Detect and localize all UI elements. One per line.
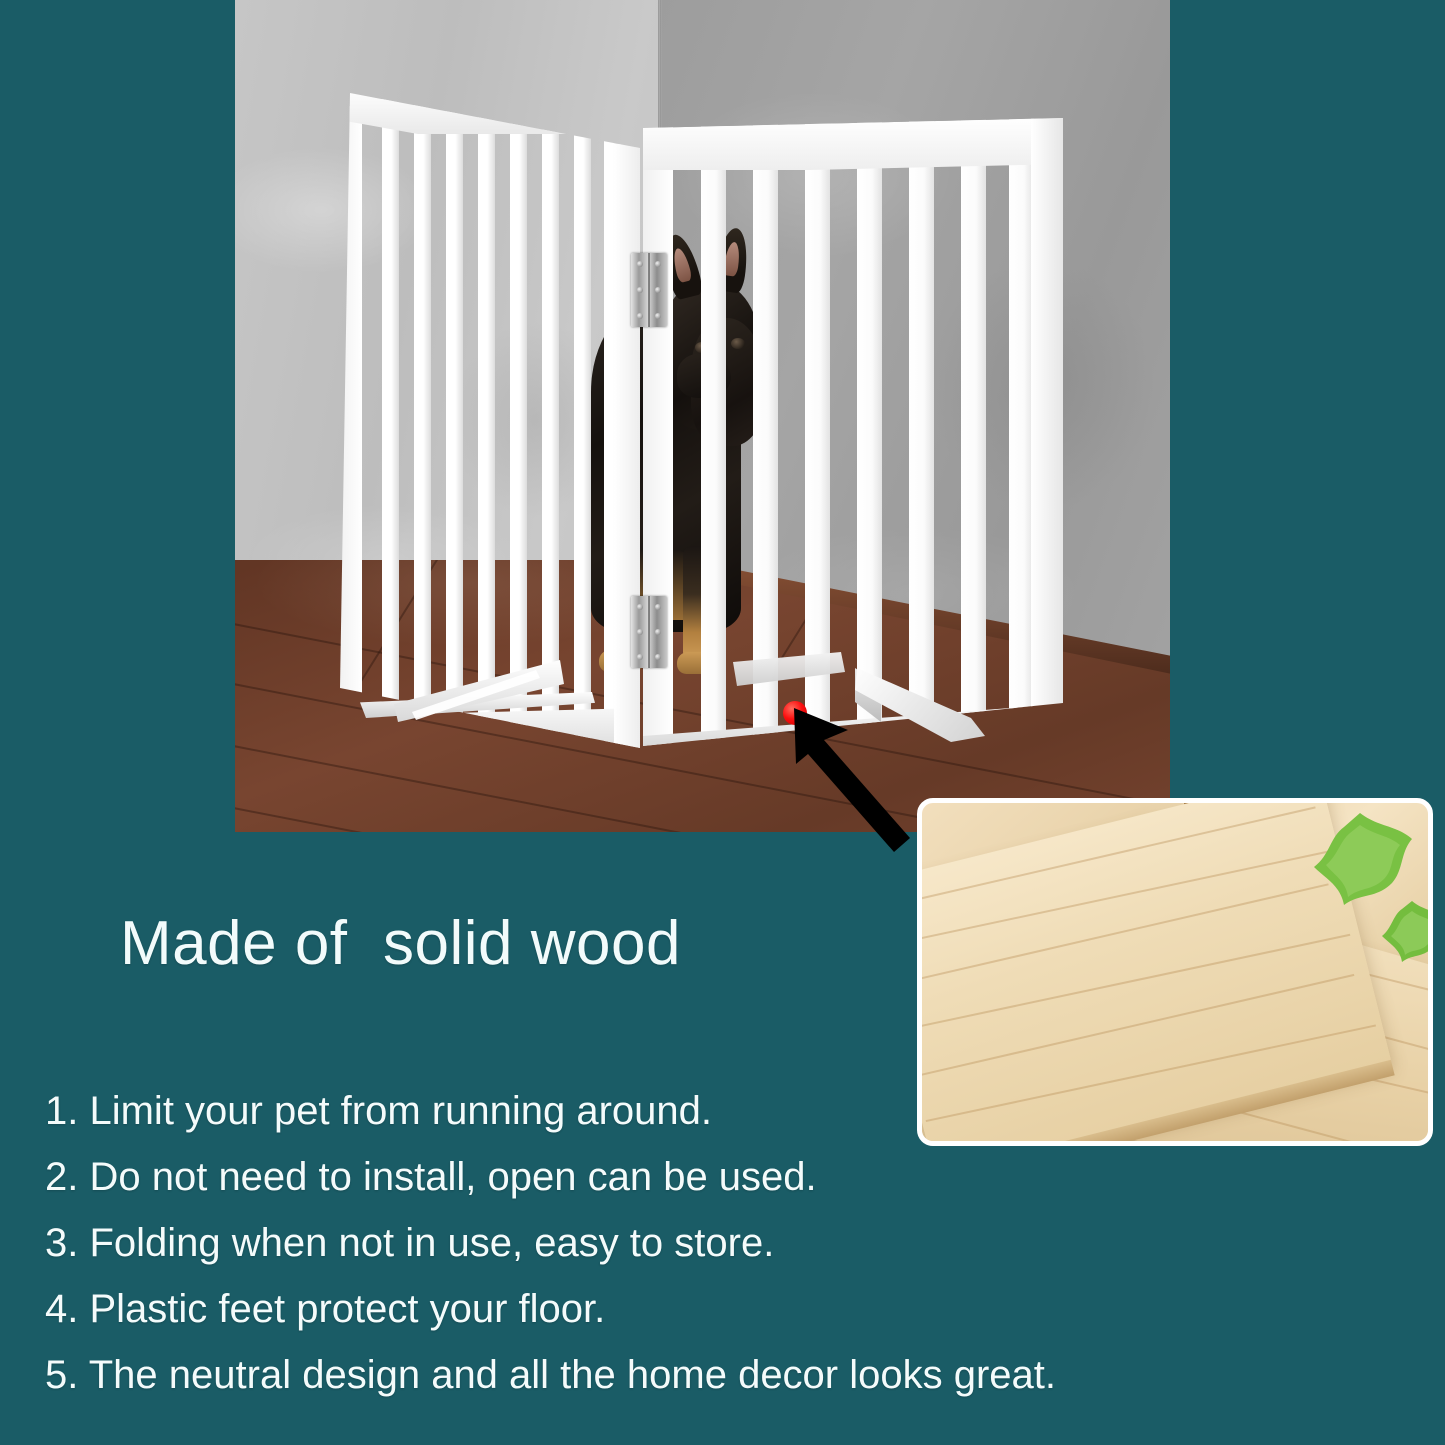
ivy-leaf-small xyxy=(1374,899,1433,969)
list-item: 3. Folding when not in use, easy to stor… xyxy=(45,1210,1405,1276)
list-item: 5. The neutral design and all the home d… xyxy=(45,1342,1405,1408)
product-infographic: Made of solid wood 1. Limit your pet fro… xyxy=(0,0,1445,1445)
page-headline: Made of solid wood xyxy=(120,908,681,979)
hinge-top xyxy=(631,253,667,327)
feature-list: 1. Limit your pet from running around. 2… xyxy=(45,1078,1405,1408)
hinge-bottom xyxy=(631,596,667,668)
gate-panel-right xyxy=(643,118,1063,746)
plastic-foot-left xyxy=(360,648,595,743)
list-item: 2. Do not need to install, open can be u… xyxy=(45,1144,1405,1210)
list-item: 4. Plastic feet protect your floor. xyxy=(45,1276,1405,1342)
list-item: 1. Limit your pet from running around. xyxy=(45,1078,1405,1144)
product-photo xyxy=(235,0,1170,832)
